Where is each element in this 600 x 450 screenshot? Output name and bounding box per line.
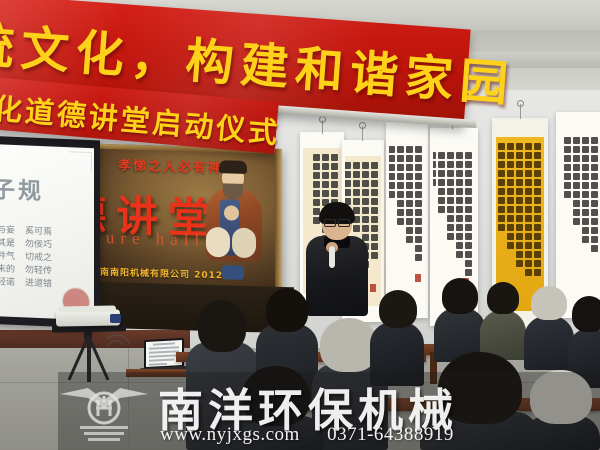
projection-screen: 子规 信 许与妄 惟其是 市井气 知未的 苟轻诺 奚可焉 勿佞巧 切戒之 勿轻传… xyxy=(0,144,94,321)
audience-member xyxy=(420,352,538,450)
projector-top xyxy=(58,305,116,312)
microphone-icon xyxy=(329,246,335,268)
audience-member xyxy=(524,370,600,450)
audience-member xyxy=(370,290,424,386)
confucius-figure xyxy=(204,165,266,279)
screen-text-column-left: 许与妄 惟其是 市井气 知未的 苟轻诺 xyxy=(0,224,15,290)
lecture-hall-poster: 孝悌之人必有神佑 德讲堂 ecture hall 河南南阳机械有限公司 2012 xyxy=(70,143,282,289)
audience-member xyxy=(228,366,324,450)
audience-member xyxy=(480,282,526,360)
screen-title: 子规 xyxy=(0,170,44,206)
photograph-scene: 孝悌之人必有神佑 德讲堂 ecture hall 河南南阳机械有限公司 2012… xyxy=(0,0,600,450)
audience-member xyxy=(434,278,486,362)
scroll-hook xyxy=(359,122,366,129)
glasses-icon xyxy=(324,219,350,225)
screen-text-column-right: 奚可焉 勿佞巧 切戒之 勿轻传 进退错 xyxy=(25,225,52,291)
scroll-hook xyxy=(517,100,524,107)
projector-lens xyxy=(110,314,121,323)
calligraphy-scroll xyxy=(386,122,428,318)
scroll-hook xyxy=(319,116,326,123)
